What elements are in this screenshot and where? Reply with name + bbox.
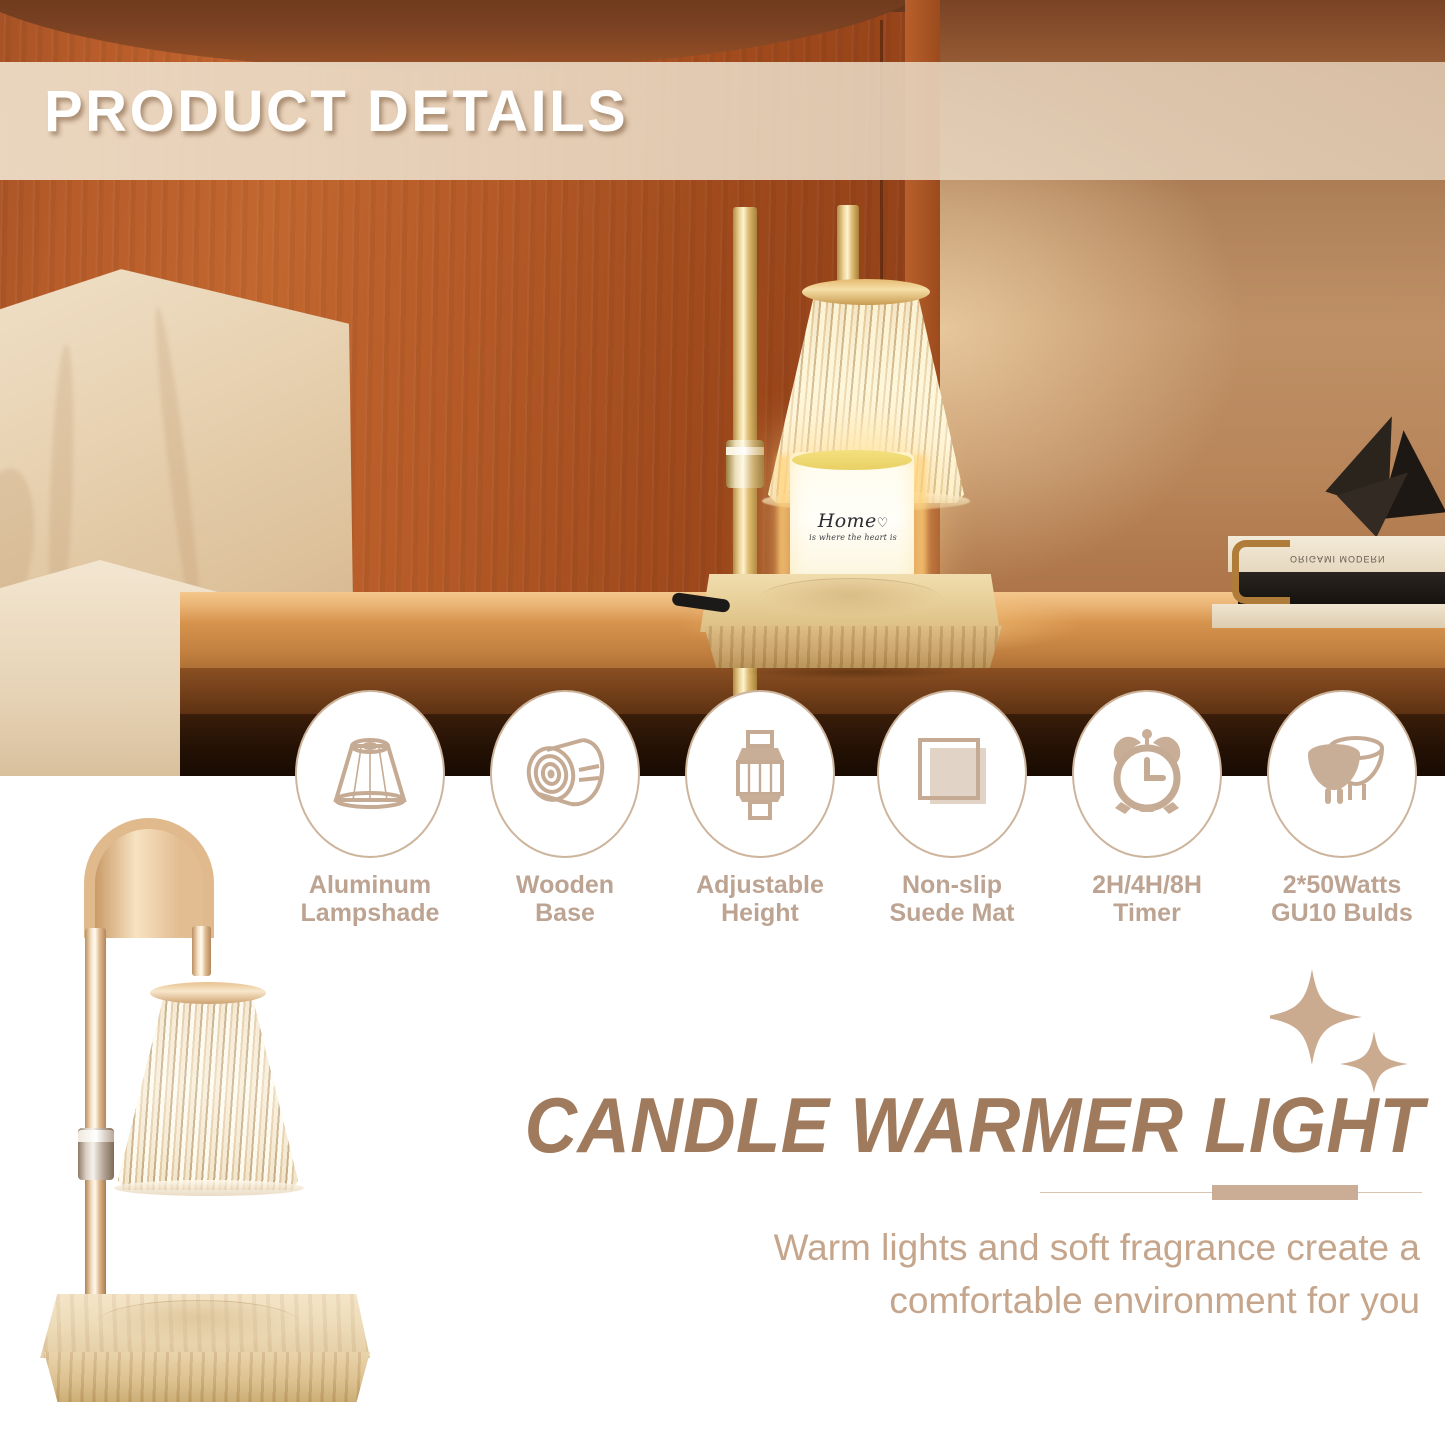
sparkle-decoration xyxy=(1270,965,1430,1095)
product-base-grain xyxy=(34,1352,370,1402)
product-shade-rim xyxy=(114,1180,304,1196)
feature-icon-circle xyxy=(1267,690,1417,858)
promo-subtitle: Warm lights and soft fragrance create a … xyxy=(520,1222,1420,1327)
feature-item-gu10-bulbs[interactable]: 2*50Watts GU10 Bulds xyxy=(1258,690,1426,927)
feature-item-timer[interactable]: 2H/4H/8H Timer xyxy=(1063,690,1231,927)
headline-divider xyxy=(1040,1191,1422,1194)
product-shade-cap xyxy=(150,982,266,1004)
warmer-base-grain xyxy=(698,626,1002,668)
feature-label: 2*50Watts GU10 Bulds xyxy=(1258,871,1426,927)
book-spine-text: ORIGAMI MODERN xyxy=(1290,548,1440,564)
promo-headline: CANDLE WARMER LIGHT xyxy=(513,1080,1424,1171)
feature-label: Adjustable Height xyxy=(676,871,844,927)
product-shade-stem xyxy=(192,926,211,976)
product-photo-lamp xyxy=(20,800,420,1440)
feature-icon-circle xyxy=(490,690,640,858)
alarm-clock-icon xyxy=(1099,726,1195,822)
feature-label: 2H/4H/8H Timer xyxy=(1063,871,1231,927)
candle-label: Home♡ is where the heart is xyxy=(806,512,900,560)
book-bottom-white xyxy=(1212,604,1445,628)
feature-item-wooden-base[interactable]: Wooden Base xyxy=(481,690,649,927)
wood-log-icon xyxy=(517,726,613,822)
product-collar-chrome xyxy=(78,1130,114,1142)
heart-icon: ♡ xyxy=(877,515,889,530)
feature-icon-circle xyxy=(877,690,1027,858)
sparkle-icon xyxy=(1270,965,1430,1095)
warmer-base-recess xyxy=(760,578,940,618)
collar-chrome-band xyxy=(726,447,764,455)
divider-accent-bar xyxy=(1212,1185,1358,1200)
feature-label: Non-slip Suede Mat xyxy=(868,871,1036,927)
feature-icon-circle xyxy=(685,690,835,858)
candle-tagline: is where the heart is xyxy=(806,534,900,542)
adjustable-lamp-icon xyxy=(712,726,808,822)
suede-mat-icon xyxy=(904,726,1000,822)
feature-item-adjustable-height[interactable]: Adjustable Height xyxy=(676,690,844,927)
feature-icon-circle xyxy=(1072,690,1222,858)
brass-handle xyxy=(1232,540,1290,604)
feature-label: Wooden Base xyxy=(481,871,649,927)
origami-star-sculpture xyxy=(1330,408,1445,538)
gu10-bulb-icon xyxy=(1294,726,1390,822)
page-title: PRODUCT DETAILS xyxy=(44,78,628,145)
candle-wax-surface xyxy=(792,450,912,470)
feature-item-suede-mat[interactable]: Non-slip Suede Mat xyxy=(868,690,1036,927)
product-base-recess xyxy=(98,1300,298,1344)
product-arc-pole xyxy=(84,818,214,938)
product-shade-ribs xyxy=(118,992,298,1190)
candle-brand-text: Home xyxy=(818,510,877,532)
product-detail-page: ORIGAMI MODERN Home♡ is where the heart … xyxy=(0,0,1445,1445)
lamp-shade-cap xyxy=(802,279,930,305)
